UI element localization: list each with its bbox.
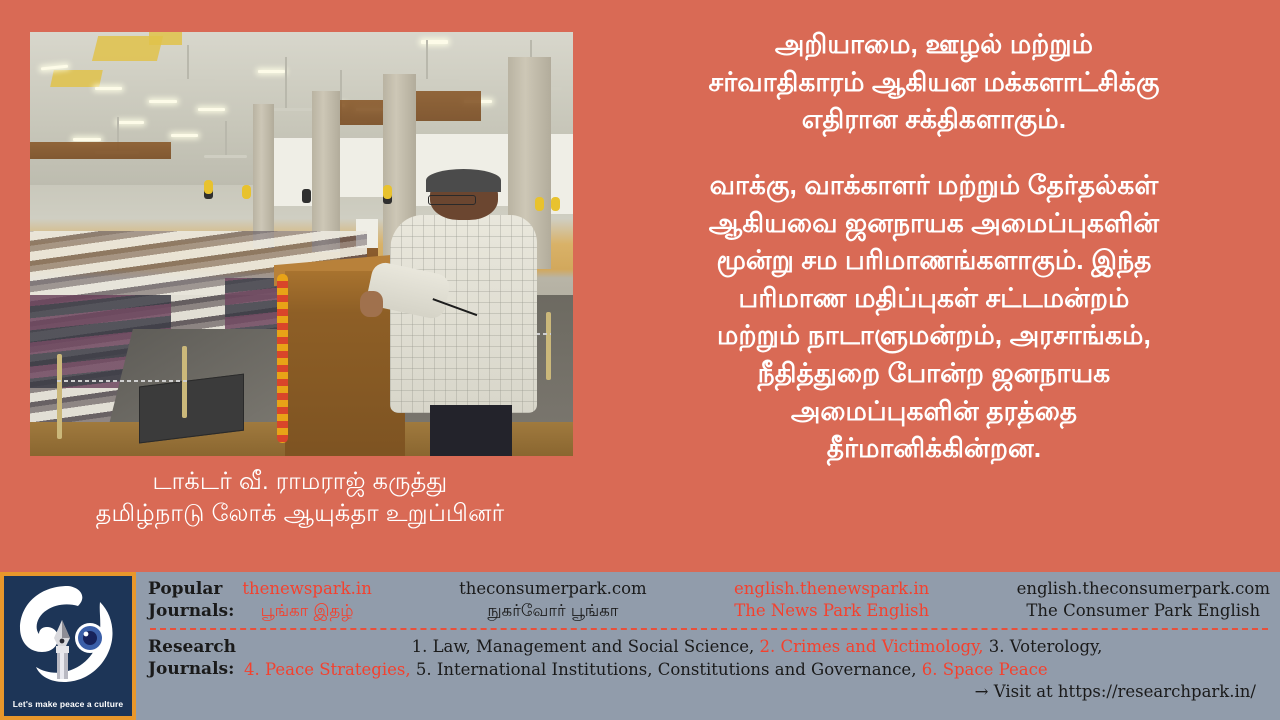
wall-wood-panel [30, 142, 171, 159]
footer-divider [150, 628, 1268, 630]
caption-line-2: தமிழ்நாடு லோக் ஆயுக்தா உறுப்பினர் [0, 498, 600, 530]
journal-name: பூங்கா இதழ் [242, 600, 371, 622]
photo-caption: டாக்டர் வீ. ராமராஜ் கருத்து தமிழ்நாடு லோ… [0, 466, 600, 531]
research-item-2: 2. Crimes and Victimology, [760, 637, 984, 656]
research-line-1: 1. Law, Management and Social Science, 2… [244, 636, 1270, 659]
research-label-line-2: Journals: [148, 659, 234, 679]
quote-line: மற்றும் நாடாளுமன்றம், அரசாங்கம், [590, 317, 1278, 355]
journal-url: english.thenewspark.in [734, 578, 929, 600]
wall-speaker [302, 189, 311, 203]
journal-theconsumerpark[interactable]: theconsumerpark.com நுகர்வோர் பூங்கா [459, 578, 647, 622]
rope-stanchion [57, 354, 62, 439]
quote-line: நீதித்துறை போன்ற ஜனநாயக [590, 355, 1278, 393]
journal-url: theconsumerpark.com [459, 578, 647, 600]
research-journals-row: ResearchJournals: 1. Law, Management and… [148, 636, 1270, 704]
ceiling-fan-blade [166, 79, 215, 82]
popular-journal-columns: thenewspark.in பூங்கா இதழ் theconsumerpa… [234, 578, 1270, 622]
research-item-4: 4. Peace Strategies, [244, 660, 411, 679]
journal-url: english.theconsumerpark.com [1017, 578, 1270, 600]
quote-column: அறியாமை, ஊழல் மற்றும் சர்வாதிகாரம் ஆகியன… [588, 0, 1280, 572]
left-column: டாக்டர் வீ. ராமராஜ் கருத்து தமிழ்நாடு லோ… [0, 0, 600, 572]
quote-line: சர்வாதிகாரம் ஆகியன மக்களாட்சிக்கு [590, 64, 1278, 102]
hall-pillar [253, 104, 275, 248]
peace-pen-eye-icon [4, 576, 132, 712]
popular-label-line-1: Popular [148, 579, 222, 599]
paragraph-spacer [588, 139, 1280, 167]
photo-scene [30, 32, 573, 456]
caption-line-1: டாக்டர் வீ. ராமராஜ் கருத்து [0, 466, 600, 498]
journal-thenewspark[interactable]: thenewspark.in பூங்கா இதழ் [242, 578, 371, 622]
footer-bar: Let's make peace a culture PopularJourna… [0, 572, 1280, 720]
quote-paragraph-2: வாக்கு, வாக்காளர் மற்றும் தேர்தல்கள் ஆகி… [588, 167, 1280, 468]
research-item-1: 1. Law, Management and Social Science, [412, 637, 760, 656]
research-item-5: 5. International Institutions, Constitut… [411, 660, 922, 679]
journal-url: thenewspark.in [242, 578, 371, 600]
ceiling-fan-rod [225, 121, 227, 155]
popular-label-line-2: Journals: [148, 601, 234, 621]
popular-journals-label: PopularJournals: [148, 578, 234, 623]
ceiling-light [117, 121, 144, 124]
rope-stanchion [182, 346, 187, 418]
speaker-glasses [428, 195, 477, 206]
popular-journals-row: PopularJournals: thenewspark.in பூங்கா இ… [148, 578, 1270, 623]
quote-line: எதிரான சக்திகளாகும். [590, 101, 1278, 139]
journal-name: The Consumer Park English [1017, 600, 1270, 622]
ceiling-panel [50, 70, 102, 87]
wall-lamp [242, 185, 251, 199]
ceiling-light [149, 100, 176, 103]
ceiling-light [171, 134, 198, 137]
quote-line: வாக்கு, வாக்காளர் மற்றும் தேர்தல்கள் [590, 167, 1278, 205]
journal-name: The News Park English [734, 600, 929, 622]
wall-wood-panel [340, 100, 383, 125]
wall-screen [340, 138, 383, 197]
logo-artwork: Let's make peace a culture [4, 576, 132, 716]
ceiling-light [95, 87, 122, 90]
logo-tagline: Let's make peace a culture [4, 699, 132, 709]
research-journal-list: 1. Law, Management and Social Science, 2… [236, 636, 1270, 704]
ceiling-panel [149, 32, 182, 45]
ceiling-fan-rod [187, 45, 189, 79]
journal-english-theconsumerpark[interactable]: english.theconsumerpark.com The Consumer… [1017, 578, 1270, 622]
ceiling-light [198, 108, 225, 111]
research-visit-link[interactable]: → Visit at https://researchpark.in/ [244, 681, 1270, 704]
barrier-chain [57, 380, 187, 382]
quote-line: தீர்மானிக்கின்றன. [590, 430, 1278, 468]
speaker-person [383, 172, 562, 456]
wall-lamp [204, 180, 213, 194]
quote-line: அமைப்புகளின் தரத்தை [590, 393, 1278, 431]
ceiling-light [73, 138, 100, 141]
journal-english-thenewspark[interactable]: english.thenewspark.in The News Park Eng… [734, 578, 929, 622]
research-label-line-1: Research [148, 637, 236, 657]
quote-line: அறியாமை, ஊழல் மற்றும் [590, 26, 1278, 64]
research-journals-label: ResearchJournals: [148, 636, 236, 681]
hall-pillar [312, 91, 339, 252]
journal-name: நுகர்வோர் பூங்கா [459, 600, 647, 622]
ceiling-fan-rod [426, 40, 428, 78]
quote-line: ஆகியவை ஜனநாயக அமைப்புகளின் [590, 205, 1278, 243]
ceiling-fan-blade [204, 155, 247, 158]
wall-wood-panel [416, 91, 481, 121]
ceiling-light [258, 70, 285, 73]
research-line-2: 4. Peace Strategies, 5. International In… [244, 659, 1270, 682]
quote-line: மூன்று சம பரிமாணங்களாகும். இந்த [590, 242, 1278, 280]
quote-line: பரிமாண மதிப்புகள் சட்டமன்றம் [590, 280, 1278, 318]
speaker-hair [426, 169, 501, 192]
marigold-garland [277, 274, 288, 444]
research-item-3: 3. Voterology, [984, 637, 1103, 656]
quote-paragraph-1: அறியாமை, ஊழல் மற்றும் சர்வாதிகாரம் ஆகியன… [588, 26, 1280, 139]
speaker-trousers [430, 405, 512, 456]
ceiling-fan-rod [285, 57, 287, 108]
footer-content: PopularJournals: thenewspark.in பூங்கா இ… [136, 572, 1280, 720]
speaker-hand [360, 291, 383, 317]
poster-canvas: டாக்டர் வீ. ராமராஜ் கருத்து தமிழ்நாடு லோ… [0, 0, 1280, 720]
event-photo [30, 32, 573, 456]
ceiling-light [421, 40, 448, 44]
research-item-6: 6. Space Peace [922, 660, 1048, 679]
brand-logo[interactable]: Let's make peace a culture [0, 572, 136, 720]
